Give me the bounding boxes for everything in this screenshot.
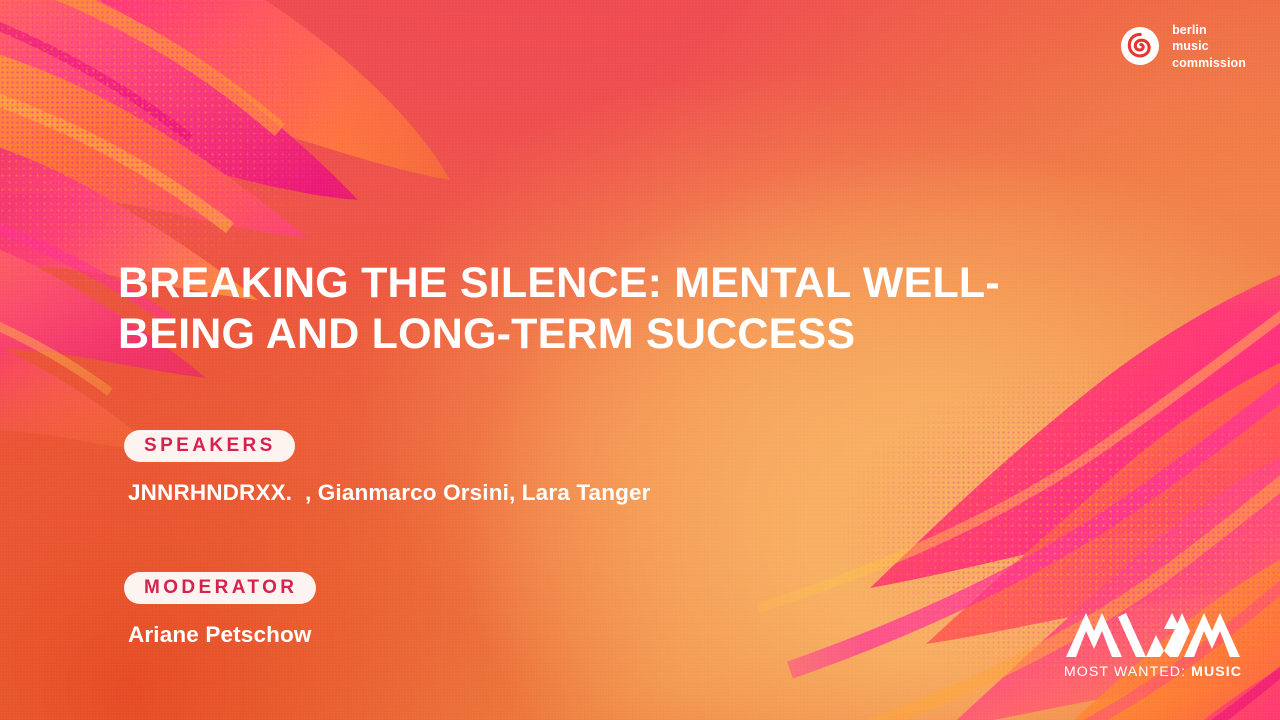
moderator-name: Ariane Petschow	[128, 622, 1078, 648]
bmc-line-music: music	[1172, 38, 1246, 54]
moderator-label-pill: MODERATOR	[124, 572, 316, 604]
session-title: BREAKING THE SILENCE: MENTAL WELL-BEING …	[118, 258, 1033, 360]
session-content: BREAKING THE SILENCE: MENTAL WELL-BEING …	[118, 258, 1078, 648]
most-wanted-music-logo: MOST WANTED: MUSIC	[1061, 611, 1245, 680]
bmc-spiral-b-icon	[1121, 27, 1159, 65]
speakers-label-pill: SPEAKERS	[124, 430, 295, 462]
mwm-triangles-icon	[1064, 611, 1242, 657]
mwm-tagline: MOST WANTED: MUSIC	[1064, 664, 1242, 680]
speakers-names: JNNRHNDRXX. , Gianmarco Orsini, Lara Tan…	[128, 480, 1078, 506]
moderator-block: MODERATOR Ariane Petschow	[118, 572, 1078, 648]
event-slide: berlin music commission BREAKING THE SIL…	[0, 0, 1280, 720]
bmc-wordmark: berlin music commission	[1172, 22, 1246, 71]
speakers-block: SPEAKERS JNNRHNDRXX. , Gianmarco Orsini,…	[118, 430, 1078, 506]
bmc-line-commission: commission	[1172, 55, 1246, 71]
berlin-music-commission-logo: berlin music commission	[1121, 22, 1246, 71]
mwm-tagline-bold: MUSIC	[1191, 664, 1242, 680]
bmc-line-berlin: berlin	[1172, 22, 1246, 38]
mwm-tagline-light: MOST WANTED:	[1064, 664, 1186, 680]
